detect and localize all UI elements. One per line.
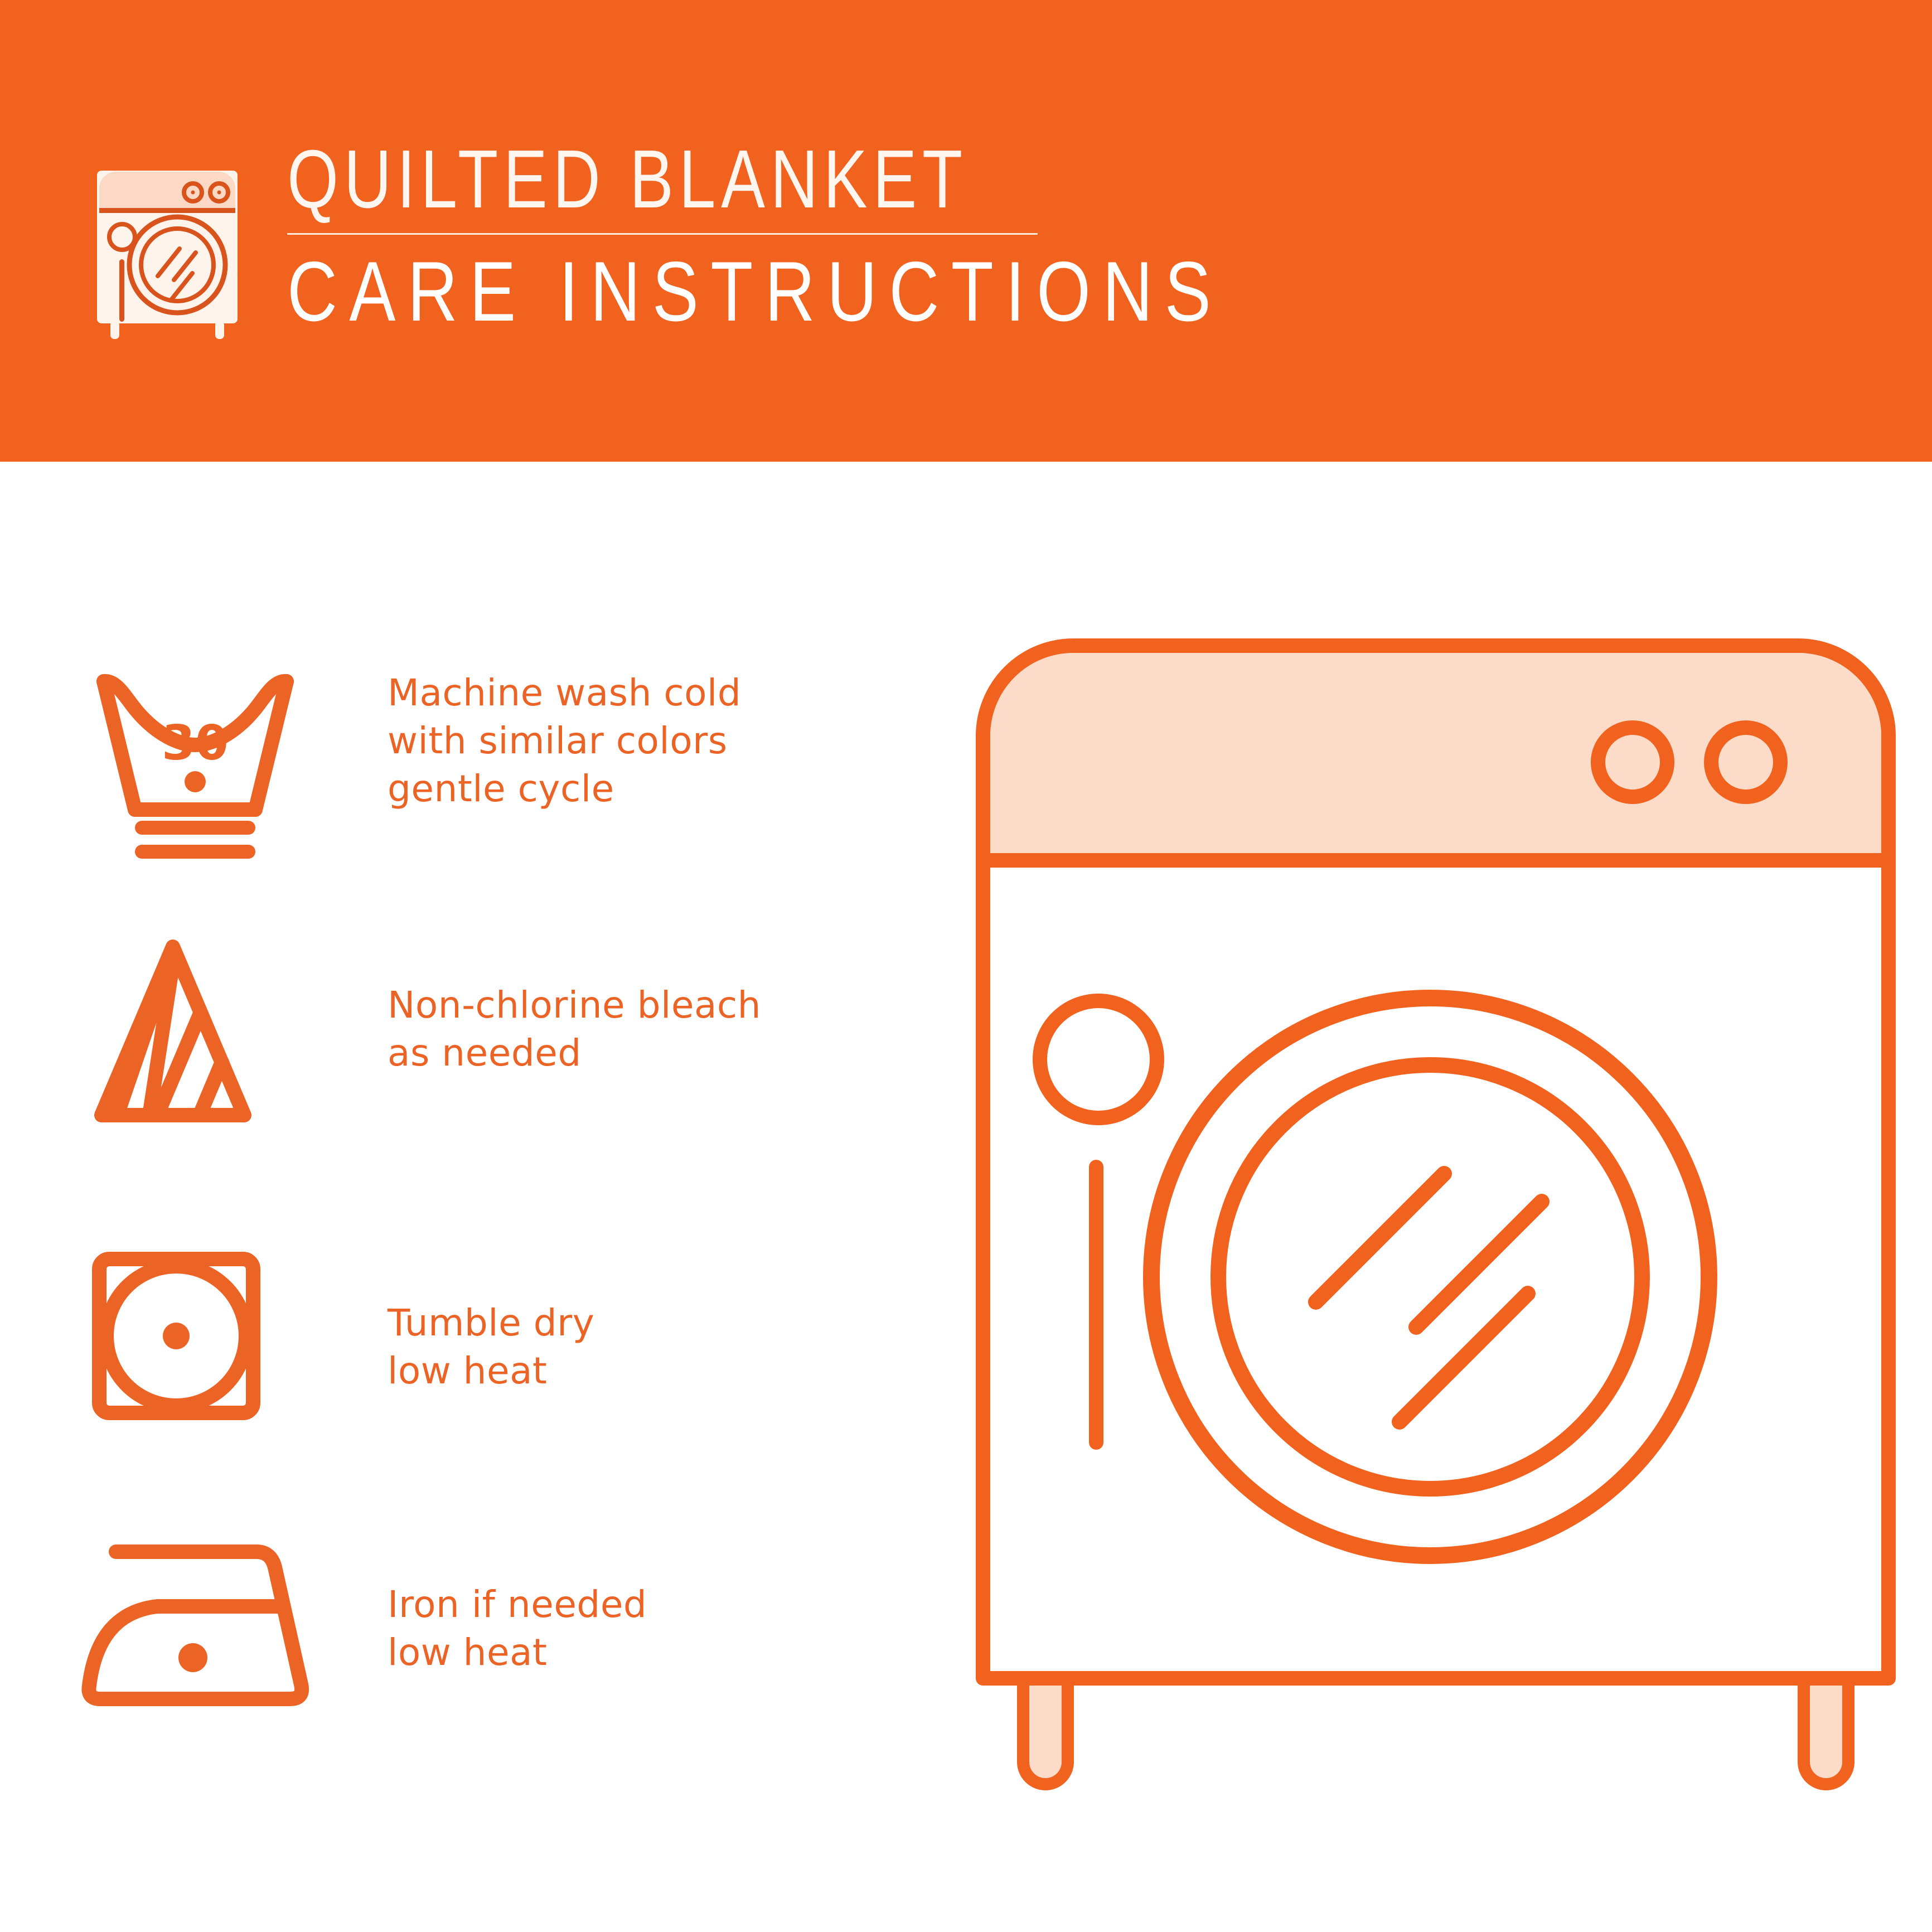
care-text-line: with similar colors [388,717,741,765]
page-subtitle: CARE INSTRUCTIONS [287,249,1129,334]
iron-low-heat-icon [84,1525,307,1720]
care-instructions-infographic: QUILTED BLANKET CARE INSTRUCTIONS 30 Mac… [0,0,1932,1932]
care-text-line: Machine wash cold [388,669,741,717]
care-item-iron-text: Iron if needed low heat [388,1581,647,1677]
care-item-wash-text: Machine wash cold with similar colors ge… [388,669,741,812]
indicator-bar [1089,1160,1103,1450]
care-item-tumble-dry-text: Tumble dry low heat [388,1299,594,1395]
care-text-line: low heat [388,1347,594,1395]
leg-right [1804,1678,1848,1784]
washing-machine-illustration [967,630,1904,1823]
leg-left [1023,1678,1068,1784]
page-title: QUILTED BLANKET [287,138,1108,221]
iron-heat-dot-icon [178,1643,207,1672]
non-chlorine-bleach-triangle-icon [84,931,307,1143]
care-text-line: gentle cycle [388,765,741,813]
care-text-line: as needed [388,1029,761,1077]
care-text-line: Non-chlorine bleach [388,981,761,1029]
washing-machine-icon [84,139,251,335]
care-text-line: low heat [388,1629,647,1677]
dry-heat-dot-icon [163,1323,190,1349]
wash-dot-icon [185,771,206,792]
care-text-line: Tumble dry [388,1299,594,1347]
header-title-group: QUILTED BLANKET CARE INSTRUCTIONS [287,138,1313,334]
tumble-dry-low-icon [84,1243,284,1444]
control-panel [990,653,1881,860]
care-text-line: Iron if needed [388,1581,647,1629]
title-divider [287,233,1038,235]
care-item-bleach-text: Non-chlorine bleach as needed [388,981,761,1077]
wash-tub-gentle-icon: 30 [84,664,307,864]
wash-temperature-label: 30 [162,715,229,771]
header-banner: QUILTED BLANKET CARE INSTRUCTIONS [0,0,1932,462]
